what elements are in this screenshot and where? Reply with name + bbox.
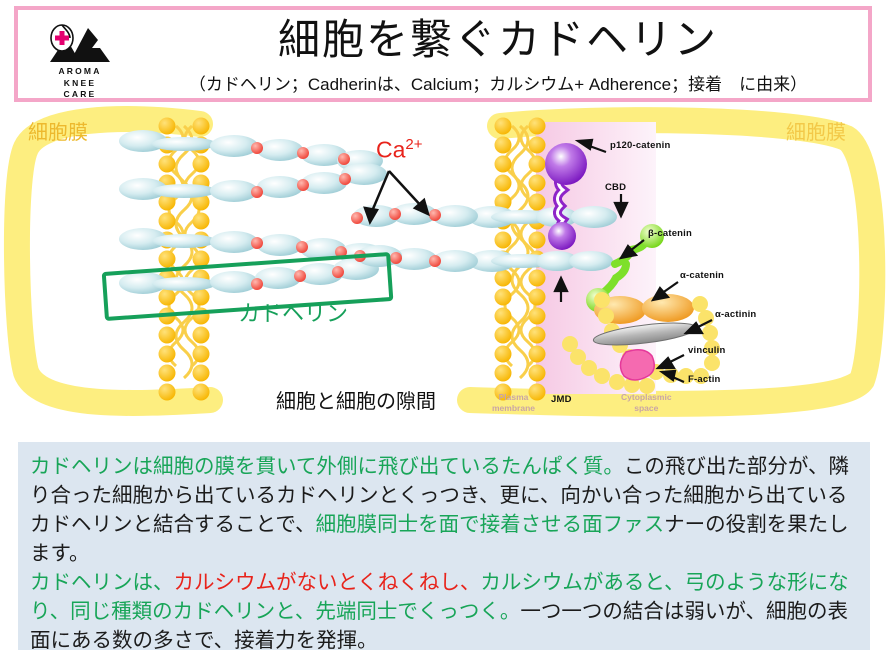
label-p120-catenin: p120-catenin bbox=[610, 140, 670, 151]
membrane-label-right: 細胞膜 bbox=[786, 116, 846, 145]
membrane-label-left: 細胞膜 bbox=[28, 116, 88, 145]
calcium-ion-label: Ca2+ bbox=[376, 136, 423, 164]
text-run: カルシウムがないとくねくねし、 bbox=[174, 571, 481, 594]
label-cbd: CBD bbox=[605, 182, 626, 193]
page-title: 細胞を繋ぐカドヘリン bbox=[138, 14, 858, 66]
text-run: カドヘリンは細胞の膜を貫いて外側に飛び出ているたんぱく質。 bbox=[30, 455, 624, 478]
text-run: 細胞膜同士を面で接着させる面ファス bbox=[316, 513, 665, 536]
cytoplasmic-line-2: space bbox=[634, 403, 658, 413]
label-cytoplasmic-space: Cytoplasmic space bbox=[621, 392, 672, 414]
calcium-charge: 2+ bbox=[405, 136, 422, 153]
title-banner: AROMA KNEE CARE 細胞を繋ぐカドヘリン （カドヘリン；Cadher… bbox=[14, 6, 872, 102]
intercellular-gap-label: 細胞と細胞の隙間 bbox=[276, 385, 436, 414]
logo-text: AROMA KNEE CARE bbox=[32, 66, 128, 101]
label-alpha-catenin: α-catenin bbox=[680, 270, 724, 281]
aroma-knee-care-mark bbox=[40, 18, 120, 66]
vinculin-shape bbox=[620, 350, 654, 380]
label-beta-catenin: β-catenin bbox=[648, 228, 692, 239]
calcium-symbol: Ca bbox=[376, 137, 405, 163]
left-plasma-membrane bbox=[159, 118, 210, 401]
label-alpha-actinin: α-actinin bbox=[715, 309, 756, 320]
lipid-heads-left-col bbox=[159, 118, 176, 401]
logo-line-3: CARE bbox=[32, 89, 128, 101]
explanation-paragraph-2: カドヘリンは、カルシウムがないとくねくねし、カルシウムがあると、弓のような形にな… bbox=[30, 568, 860, 655]
logo: AROMA KNEE CARE bbox=[32, 16, 128, 100]
label-plasma-membrane: Plasma membrane bbox=[492, 392, 535, 414]
cadherin-label: カドヘリン bbox=[238, 296, 348, 328]
plasma-membrane-line-2: membrane bbox=[492, 403, 535, 413]
explanation-paragraph-1: カドヘリンは細胞の膜を貫いて外側に飛び出ているたんぱく質。この飛び出た部分が、隣… bbox=[30, 452, 860, 568]
lipid-heads-right-col bbox=[193, 118, 210, 401]
logo-line-2: KNEE bbox=[32, 78, 128, 90]
logo-line-1: AROMA bbox=[32, 66, 128, 78]
label-vinculin: vinculin bbox=[688, 345, 726, 356]
diagram-graphics bbox=[0, 104, 886, 438]
label-f-actin: F-actin bbox=[688, 374, 721, 385]
label-jmd: JMD bbox=[551, 394, 572, 405]
cadherin-diagram: 細胞膜 細胞膜 カドヘリン 細胞と細胞の隙間 Ca2+ p120-catenin… bbox=[0, 104, 886, 438]
page-subtitle: （カドヘリン；Cadherinは、Calcium；カルシウム+ Adherenc… bbox=[118, 70, 878, 95]
plasma-membrane-line-1: Plasma bbox=[499, 392, 529, 402]
explanation-panel: カドヘリンは細胞の膜を貫いて外側に飛び出ているたんぱく質。この飛び出た部分が、隣… bbox=[18, 442, 870, 650]
cytoplasmic-line-1: Cytoplasmic bbox=[621, 392, 672, 402]
text-run: カドヘリンは、 bbox=[30, 571, 174, 594]
